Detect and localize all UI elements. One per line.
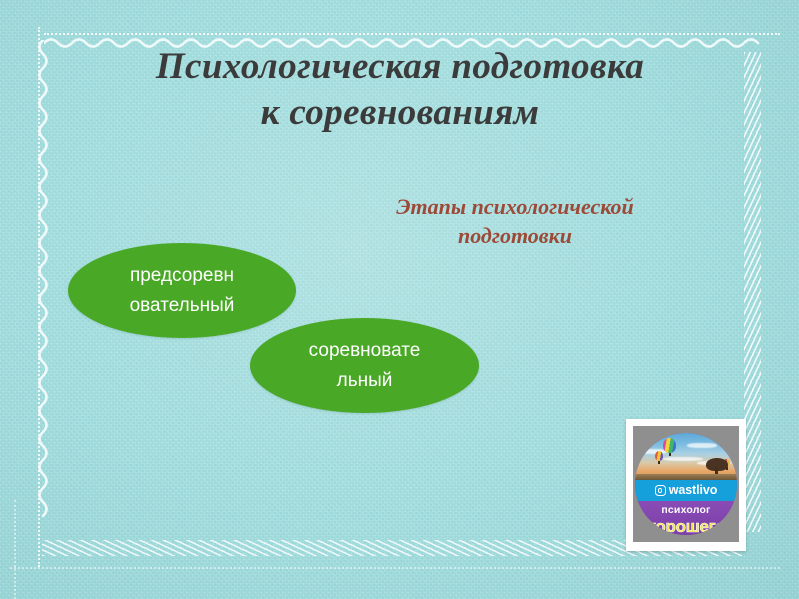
frame-rule-top bbox=[44, 33, 780, 35]
stage-ellipse-1-line-2: овательный bbox=[130, 291, 235, 321]
watermark-handle-band: wastlivo bbox=[635, 480, 737, 501]
frame-rule-bottom bbox=[10, 567, 780, 569]
page-title: Психологическая подготовка к соревновани… bbox=[50, 44, 750, 136]
slide-canvas: Психологическая подготовка к соревновани… bbox=[0, 0, 799, 599]
stage-ellipse-2-text: соревновате льный bbox=[309, 336, 421, 396]
stage-ellipse-1-line-1: предсоревн bbox=[130, 261, 235, 291]
frame-rule-left-outer bbox=[14, 500, 16, 599]
watermark-handle: wastlivo bbox=[669, 484, 718, 497]
page-title-line-1: Психологическая подготовка bbox=[50, 44, 750, 90]
watermark-tagline-line-2: хорошего bbox=[635, 518, 737, 535]
page-subtitle: Этапы психологической подготовки bbox=[330, 192, 700, 250]
hot-air-balloon-icon bbox=[663, 438, 676, 453]
page-subtitle-line-1: Этапы психологической bbox=[330, 192, 700, 221]
frame-wave-left bbox=[34, 40, 48, 520]
watermark-tagline: психолог хорошего настроения bbox=[635, 501, 737, 535]
hot-air-balloon-icon bbox=[655, 451, 663, 461]
frame-rule-left bbox=[38, 27, 40, 567]
cloud-shape bbox=[687, 443, 717, 448]
watermark-photo bbox=[635, 433, 737, 480]
stage-ellipse-presoревнovatelny[interactable]: предсоревн овательный bbox=[68, 243, 296, 338]
instagram-icon bbox=[655, 485, 666, 496]
watermark-logo-card[interactable]: wastlivo психолог хорошего настроения bbox=[626, 419, 746, 551]
stage-ellipse-2-line-1: соревновате bbox=[309, 336, 421, 366]
watermark-logo-inner: wastlivo психолог хорошего настроения bbox=[633, 426, 739, 542]
page-subtitle-line-2: подготовки bbox=[330, 221, 700, 250]
watermark-logo-circle: wastlivo психолог хорошего настроения bbox=[635, 433, 737, 535]
stage-ellipse-2-line-2: льный bbox=[309, 366, 421, 396]
stage-ellipse-1-text: предсоревн овательный bbox=[130, 261, 235, 321]
stage-ellipse-sorevnovatelny[interactable]: соревновате льный bbox=[250, 318, 479, 413]
cloud-shape bbox=[663, 457, 703, 461]
watermark-tagline-line-1: психолог bbox=[635, 505, 737, 516]
page-title-line-2: к соревнованиям bbox=[50, 90, 750, 136]
